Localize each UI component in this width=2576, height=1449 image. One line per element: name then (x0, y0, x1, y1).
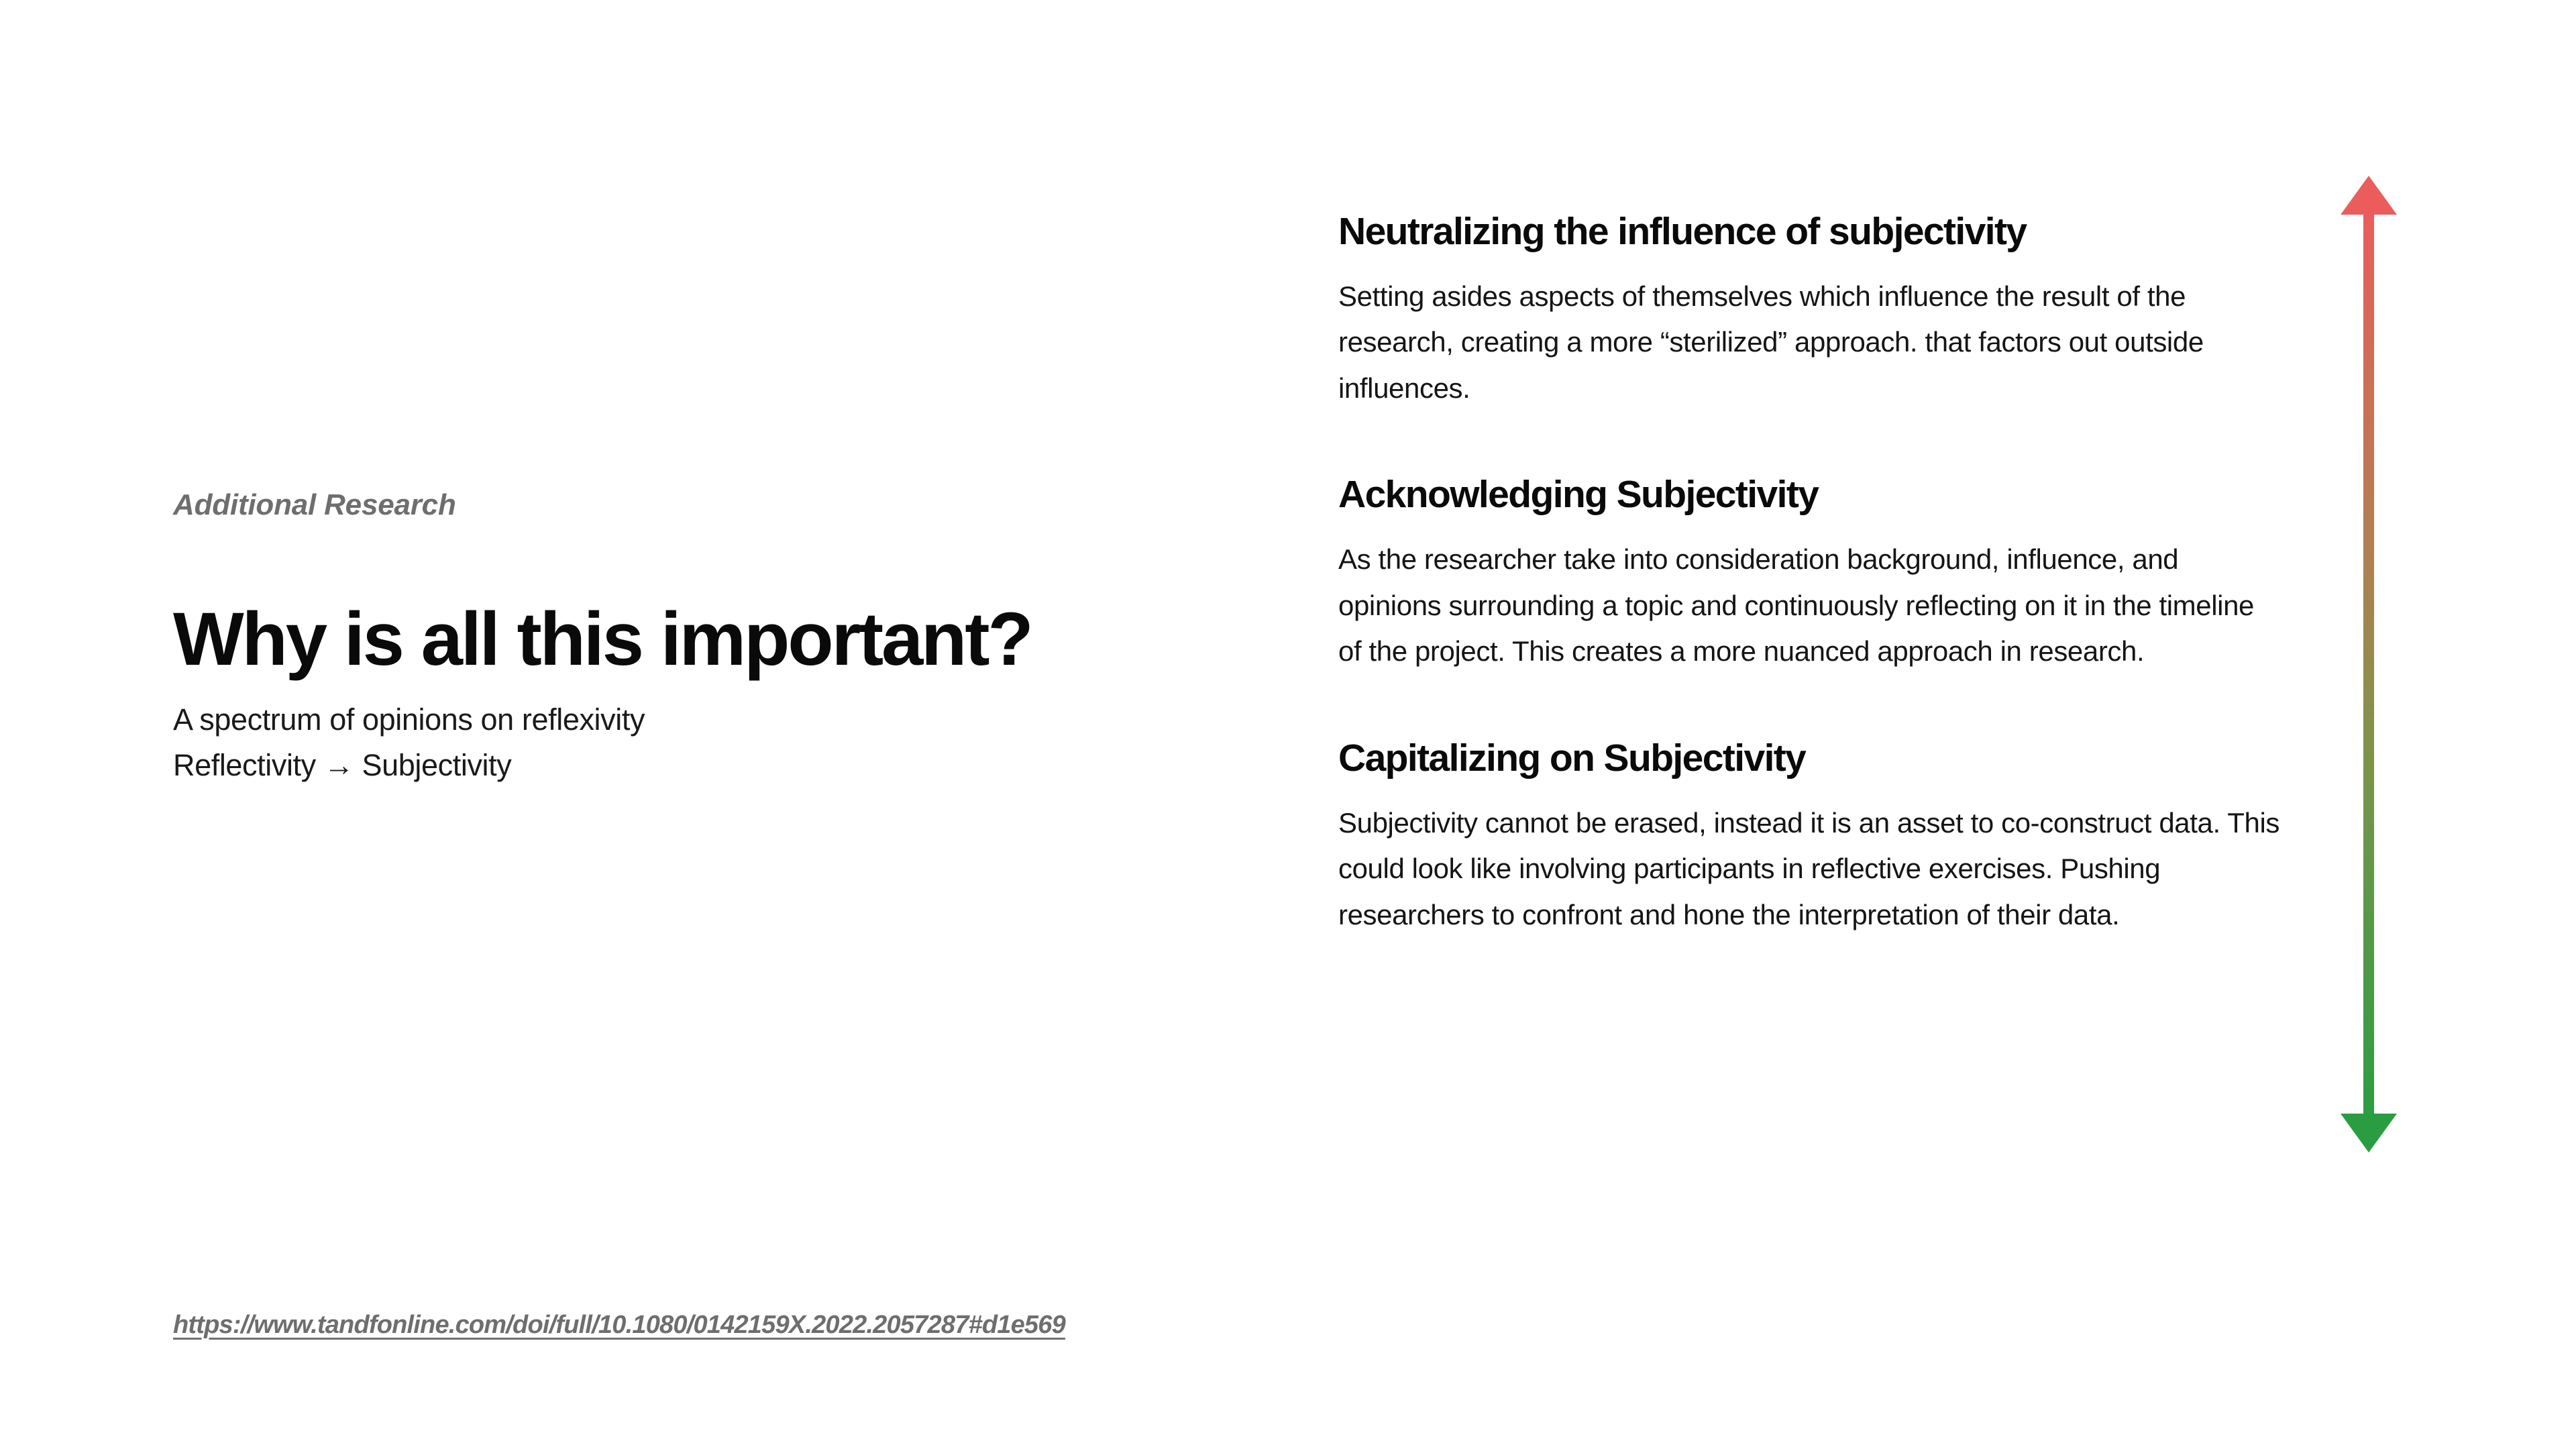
subtitle-line-1: A spectrum of opinions on reflexivity (173, 697, 1220, 743)
section-heading: Neutralizing the influence of subjectivi… (1338, 213, 2063, 251)
section-acknowledging: Acknowledging Subjectivity As the resear… (1338, 476, 2291, 674)
slide-canvas: Additional Research Why is all this impo… (0, 0, 2576, 1449)
section-capitalizing: Capitalizing on Subjectivity Subjectivit… (1338, 739, 2291, 938)
subtitle-block: A spectrum of opinions on reflexivity Re… (173, 697, 1220, 789)
spectrum-arrow (2326, 176, 2411, 1152)
subtitle-line-2: Reflectivity → Subjectivity (173, 743, 1220, 788)
section-body: Setting asides aspects of themselves whi… (1338, 274, 2291, 411)
source-url-link[interactable]: https://www.tandfonline.com/doi/full/10.… (173, 1310, 1065, 1341)
section-body: Subjectivity cannot be erased, instead i… (1338, 800, 2288, 938)
right-column: Neutralizing the influence of subjectivi… (1338, 213, 2291, 938)
spectrum-arrow-icon (2326, 176, 2411, 1152)
section-body: As the researcher take into consideratio… (1338, 537, 2277, 674)
section-heading: Capitalizing on Subjectivity (1338, 739, 2291, 777)
section-neutralizing: Neutralizing the influence of subjectivi… (1338, 213, 2291, 411)
left-column: Additional Research Why is all this impo… (173, 488, 1220, 788)
page-title: Why is all this important? (173, 602, 1220, 677)
eyebrow-label: Additional Research (173, 488, 1220, 523)
section-heading: Acknowledging Subjectivity (1338, 476, 2291, 514)
